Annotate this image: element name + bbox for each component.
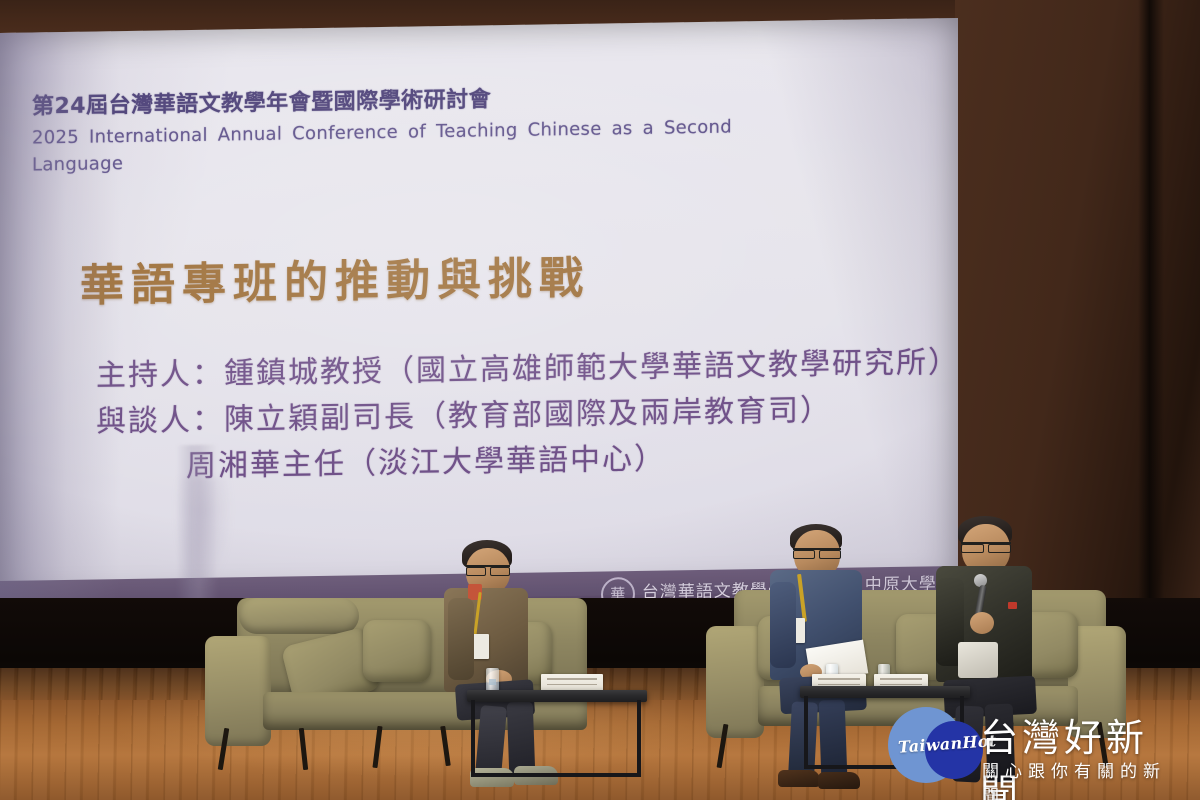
sofa-left-armrest <box>205 636 271 746</box>
panelist-left-badge <box>472 634 489 659</box>
table-left <box>467 690 647 790</box>
sofa-left-leg-3 <box>372 726 382 768</box>
flag-pin-icon <box>1008 602 1017 609</box>
wall-shadow-strip <box>1138 0 1164 620</box>
sofa-left-leg-2 <box>299 728 308 770</box>
projection-screen: 第24屆台灣華語文教學年會暨國際學術研討會 2025 International… <box>0 18 958 605</box>
slide-surface: 第24屆台灣華語文教學年會暨國際學術研討會 2025 International… <box>0 18 958 605</box>
watermark: TaiwanHot 台灣好新聞 關心跟你有關的新聞 <box>880 695 1180 791</box>
glasses-icon <box>466 565 510 575</box>
watermark-tagline: 關心跟你有關的新聞 <box>982 757 1180 800</box>
slide-body: 主持人：鍾鎮城教授（國立高雄師範大學華語文教學研究所） 與談人：陳立穎副司長（教… <box>96 340 946 491</box>
glasses-icon <box>793 548 841 558</box>
slide-title: 華語專班的推動與挑戰 <box>80 242 590 314</box>
sofa-left-throw-pillow-b <box>363 620 431 682</box>
sofa-left-bolster <box>239 598 359 634</box>
table-left-top <box>467 690 647 702</box>
panelist-right-papers <box>958 642 998 678</box>
table-right-leg-1 <box>804 696 808 768</box>
panelist-right-hand <box>970 612 994 634</box>
glasses-icon <box>961 542 1011 552</box>
table-left-leg-1 <box>471 700 475 776</box>
panelist-left-arm <box>448 598 474 680</box>
table-left-leg-2 <box>637 700 641 776</box>
panelist-center-arm <box>770 582 796 668</box>
table-left-stretcher <box>471 773 641 777</box>
slide-header: 第24屆台灣華語文教學年會暨國際學術研討會 2025 International… <box>32 83 772 179</box>
sofa-right-armrest-left <box>706 626 764 738</box>
slide-header-english: 2025 International Annual Conference of … <box>32 114 732 179</box>
conference-photo: 第24屆台灣華語文教學年會暨國際學術研討會 2025 International… <box>0 0 1200 800</box>
